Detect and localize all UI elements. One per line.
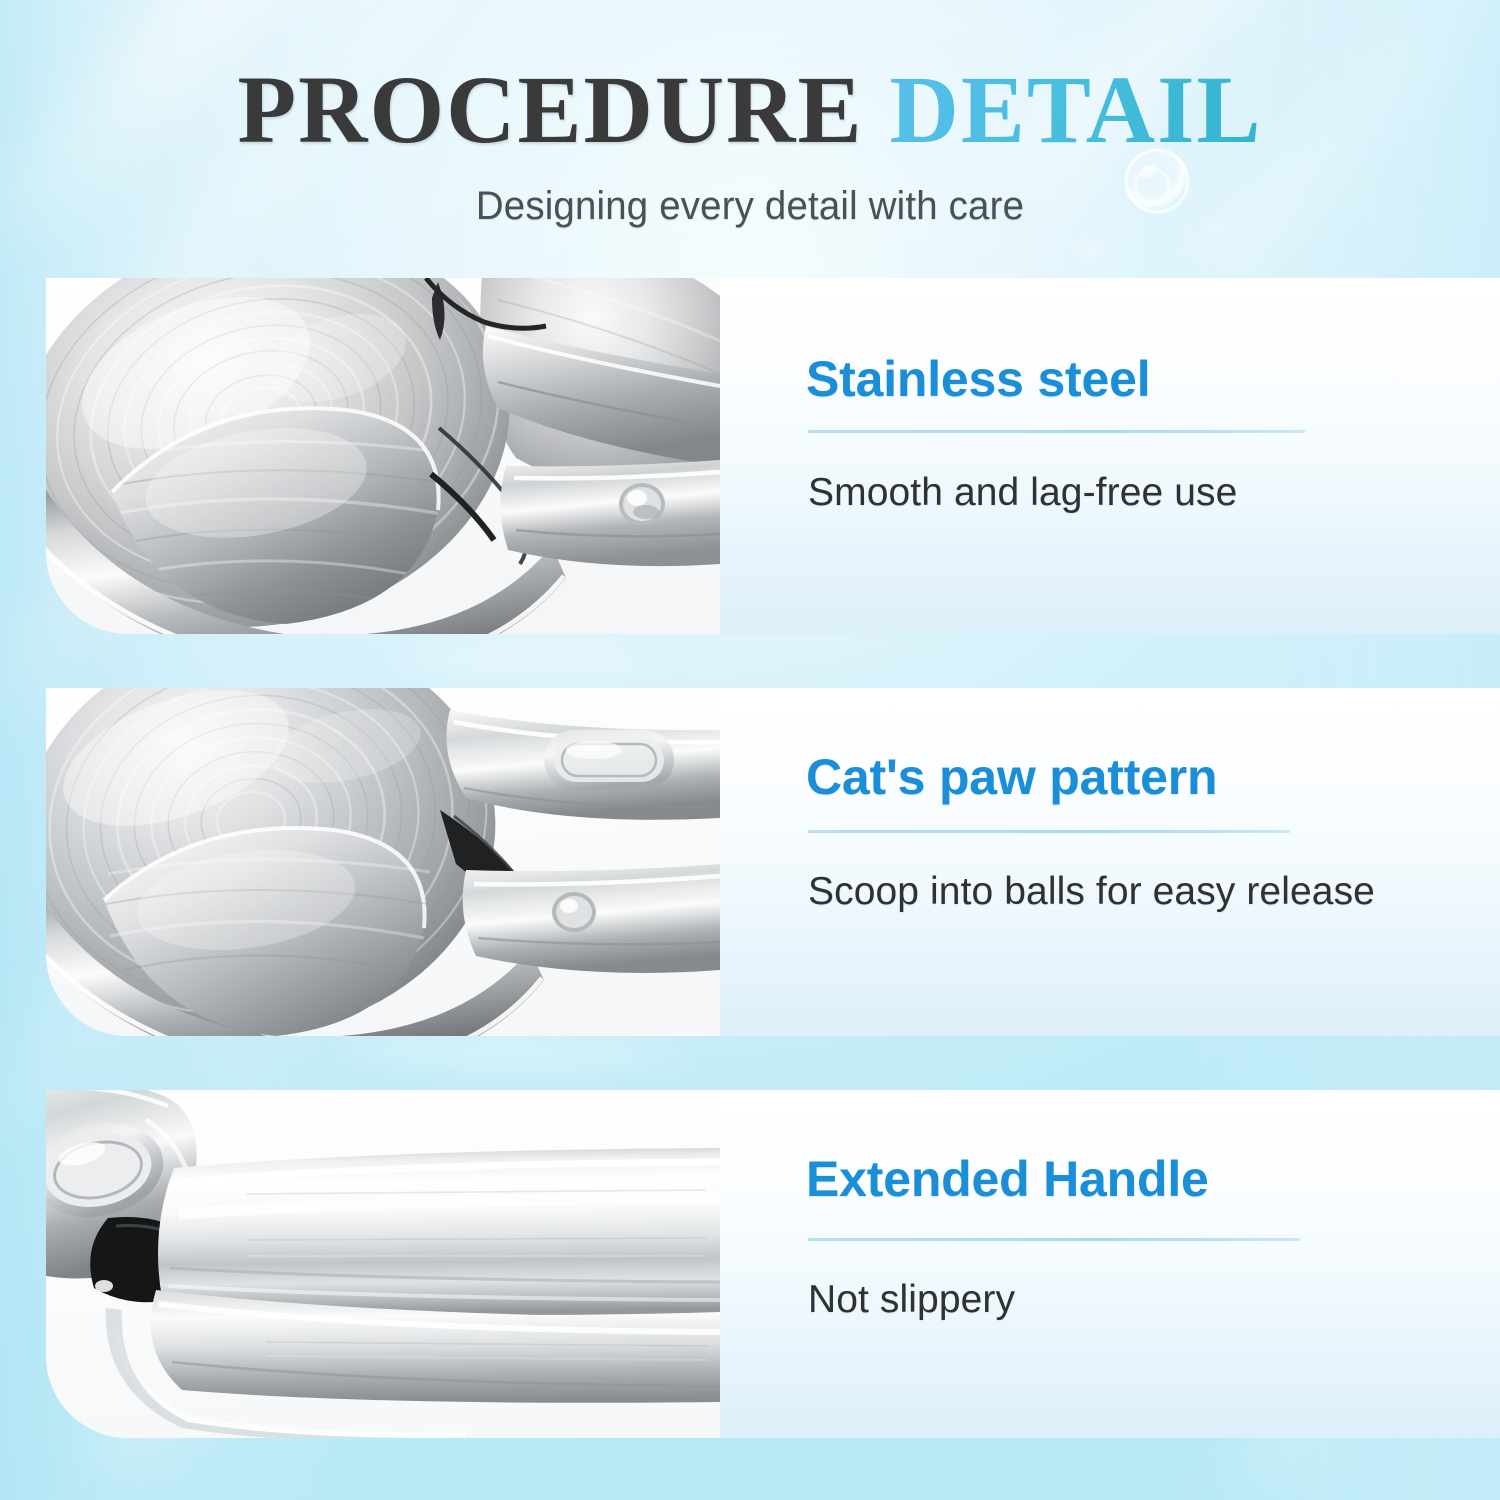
rivet-detail [619, 483, 665, 525]
page-title-primary: PROCEDURE [238, 56, 864, 163]
product-photo-stainless-steel [46, 278, 720, 634]
feature-description-3: Not slippery [808, 1278, 1015, 1322]
feature-card-1: Stainless steel Smooth and lag-free use [720, 278, 1500, 634]
product-photo-cats-paw-pattern [46, 688, 720, 1036]
page-subtitle: Designing every detail with care [30, 184, 1470, 229]
page-header: PROCEDURE DETAIL Designing every detail … [0, 0, 1500, 262]
feature-card-2: Cat's paw pattern Scoop into balls for e… [720, 688, 1500, 1036]
feature-row-1: Stainless steel Smooth and lag-free use [0, 278, 1500, 634]
page-title: PROCEDURE DETAIL [0, 62, 1500, 158]
feature-divider-1 [808, 430, 1305, 433]
feature-title-1: Stainless steel [806, 350, 1150, 408]
feature-description-2: Scoop into balls for easy release [808, 870, 1375, 914]
feature-divider-3 [808, 1238, 1300, 1241]
feature-title-3: Extended Handle [806, 1150, 1209, 1208]
page-title-accent: DETAIL [890, 56, 1263, 163]
feature-title-2: Cat's paw pattern [806, 748, 1217, 806]
feature-card-3: Extended Handle Not slippery [720, 1090, 1500, 1438]
feature-row-3: Extended Handle Not slippery [0, 1090, 1500, 1438]
feature-row-2: Cat's paw pattern Scoop into balls for e… [0, 688, 1500, 1036]
product-photo-extended-handle [46, 1090, 720, 1438]
feature-description-1: Smooth and lag-free use [808, 471, 1237, 515]
rivet-detail [552, 892, 596, 932]
feature-divider-2 [808, 830, 1290, 833]
thumb-pad-detail [544, 730, 674, 790]
